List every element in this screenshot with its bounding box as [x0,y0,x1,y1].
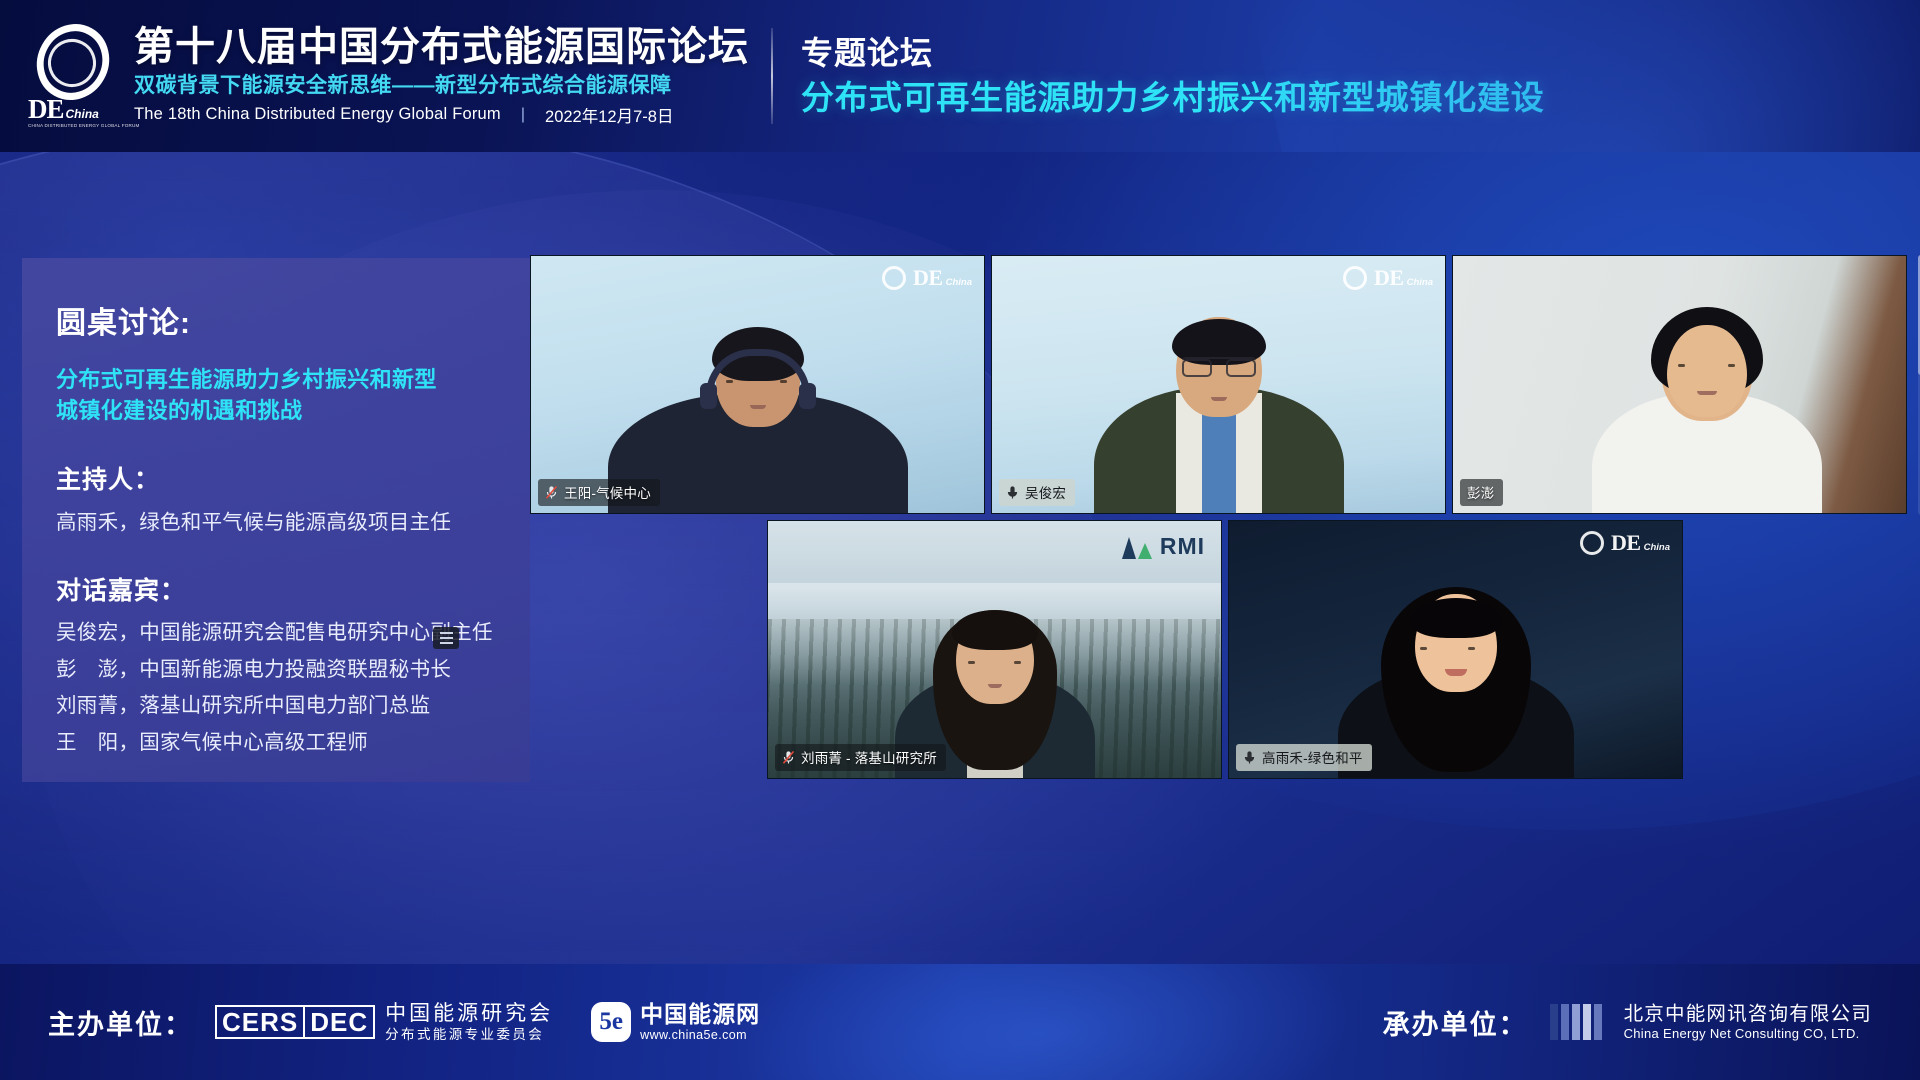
de-watermark-cn: China [1407,277,1433,288]
session-type-label: 专题论坛 [801,34,1920,72]
roundtable-topic-line2: 城镇化建设的机遇和挑战 [56,395,496,426]
video-tile-wang-yang[interactable]: DE China 王阳-气候中心 [530,255,985,514]
video-conference-grid: DE China 王阳-气候中心 [530,255,1920,785]
guest-item: 王 阳，国家气候中心高级工程师 [56,729,496,757]
session-topic-title: 分布式可再生能源助力乡村振兴和新型城镇化建设 [801,78,1920,118]
video-tile-liu-yujing[interactable]: RMI 刘雨菁 - 落基山研究所 [767,520,1222,779]
china5e-logo: 5e 中国能源网 www.china5e.com [591,1001,760,1044]
header-separator: | [521,106,525,124]
cen-name-en: China Energy Net Consulting CO, LTD. [1624,1026,1872,1042]
header-vertical-divider [771,28,773,124]
dec-mark-text: DEC [303,1007,373,1037]
participant-name-badge: 刘雨菁 - 落基山研究所 [775,744,946,771]
forum-subtitle-cn: 双碳背景下能源安全新思维——新型分布式综合能源保障 [134,73,749,98]
cers-name-sub: 分布式能源专业委员会 [385,1027,553,1043]
roundtable-topic: 分布式可再生能源助力乡村振兴和新型 城镇化建设的机遇和挑战 [56,364,496,426]
roundtable-topic-line1: 分布式可再生能源助力乡村振兴和新型 [56,364,496,395]
de-watermark-cn: China [946,277,972,288]
roundtable-info-panel: 圆桌讨论: 分布式可再生能源助力乡村振兴和新型 城镇化建设的机遇和挑战 主持人：… [22,258,530,782]
logo-tiny-text: CHINA DISTRIBUTED ENERGY GLOBAL FORUM [28,124,140,129]
mic-muted-icon [545,485,558,500]
mic-muted-icon [782,750,795,765]
host-org-group: 承办单位： 北京中能网讯咨询有限公司 China Energy Net Cons… [1383,1002,1872,1043]
grid-layout-toggle-icon[interactable] [433,627,459,649]
cers-name-cn: 中国能源研究会 [385,1001,553,1027]
video-row-bottom: RMI 刘雨菁 - 落基山研究所 [530,520,1920,779]
de-ring-icon [882,266,906,290]
header-right-block: 专题论坛 分布式可再生能源助力乡村振兴和新型城镇化建设 [801,34,1920,118]
participant-silhouette [1094,323,1344,513]
de-china-watermark: DE China [1343,266,1433,290]
forum-title-en: The 18th China Distributed Energy Global… [134,105,501,124]
guest-item: 吴俊宏，中国能源研究会配售电研究中心副主任 [56,619,496,647]
de-china-watermark: DE China [882,266,972,290]
guest-list: 吴俊宏，中国能源研究会配售电研究中心副主任 彭 澎，中国新能源电力投融资联盟秘书… [56,619,496,757]
header-left-block: 第十八届中国分布式能源国际论坛 双碳背景下能源安全新思维——新型分布式综合能源保… [130,25,749,127]
cers-dec-mark: CERS DEC [215,1005,375,1039]
de-watermark-cn: China [1644,542,1670,553]
forum-logo: DEChina CHINA DISTRIBUTED ENERGY GLOBAL … [28,23,120,129]
participant-name-badge: 吴俊宏 [999,479,1075,506]
de-watermark-text: DE [913,267,943,289]
cers-name-block: 中国能源研究会 分布式能源专业委员会 [385,1001,553,1043]
cen-name-cn: 北京中能网讯咨询有限公司 [1624,1002,1872,1026]
logo-china-text: China [66,107,99,121]
logo-de-text: DE [28,94,64,124]
logo-de-mark: DEChina CHINA DISTRIBUTED ENERGY GLOBAL … [28,96,140,129]
forum-title-cn: 第十八届中国分布式能源国际论坛 [134,25,749,70]
sponsors-footer: 主办单位： CERS DEC 中国能源研究会 分布式能源专业委员会 5e 中国能… [0,964,1920,1080]
rmi-watermark-text: RMI [1160,533,1205,560]
participant-name: 刘雨菁 - 落基山研究所 [801,747,937,767]
video-tile-peng-peng[interactable]: 彭澎 [1452,255,1907,514]
host-org-label: 承办单位： [1383,1003,1528,1042]
organizer-label: 主办单位： [48,1003,193,1042]
cers-dec-logo: CERS DEC 中国能源研究会 分布式能源专业委员会 [215,1001,553,1043]
china5e-name-cn: 中国能源网 [640,1001,760,1029]
participant-name-badge: 彭澎 [1460,479,1503,506]
participant-name-badge: 王阳-气候中心 [538,479,660,506]
china-energy-net-name-block: 北京中能网讯咨询有限公司 China Energy Net Consulting… [1624,1002,1872,1043]
video-tile-gao-yuhe[interactable]: DE China 高雨禾-绿色和平 [1228,520,1683,779]
guest-section-label: 对话嘉宾： [56,571,496,607]
participant-name-badge: 高雨禾-绿色和平 [1236,744,1372,771]
participant-name: 王阳-气候中心 [564,482,651,502]
participant-name: 吴俊宏 [1025,482,1066,502]
participant-silhouette [1582,303,1832,513]
mic-icon [1243,750,1256,765]
roundtable-heading: 圆桌讨论: [56,298,496,342]
china5e-name-block: 中国能源网 www.china5e.com [640,1001,760,1044]
video-row-top: DE China 王阳-气候中心 [530,255,1920,514]
host-section-label: 主持人： [56,460,496,496]
de-ring-icon [1343,266,1367,290]
header-english-row: The 18th China Distributed Energy Global… [134,103,749,127]
forum-header-banner: DEChina CHINA DISTRIBUTED ENERGY GLOBAL … [0,0,1920,152]
china5e-url: www.china5e.com [640,1028,760,1043]
participant-name: 彭澎 [1467,482,1494,502]
participant-name: 高雨禾-绿色和平 [1262,747,1363,767]
cers-mark-text: CERS [217,1007,303,1037]
china5e-mark-icon: 5e [591,1002,631,1042]
china-energy-net-bars-icon [1550,1004,1602,1040]
guest-item: 彭 澎，中国新能源电力投融资联盟秘书长 [56,656,496,684]
presentation-stage: DEChina CHINA DISTRIBUTED ENERGY GLOBAL … [0,0,1920,1080]
guest-item: 刘雨菁，落基山研究所中国电力部门总监 [56,692,496,720]
de-ring-icon [1580,531,1604,555]
de-watermark-text: DE [1374,267,1404,289]
video-tile-wu-junhong[interactable]: DE China 吴俊宏 [991,255,1446,514]
de-china-watermark: DE China [1580,531,1670,555]
rmi-watermark: RMI [1122,533,1205,560]
organizer-group: 主办单位： CERS DEC 中国能源研究会 分布式能源专业委员会 5e 中国能… [48,1001,760,1044]
rmi-mountain-icon [1122,535,1152,559]
de-watermark-text: DE [1611,532,1641,554]
mic-icon [1006,485,1019,500]
forum-date: 2022年12月7-8日 [545,103,673,127]
host-name-title: 高雨禾，绿色和平气候与能源高级项目主任 [56,509,496,537]
